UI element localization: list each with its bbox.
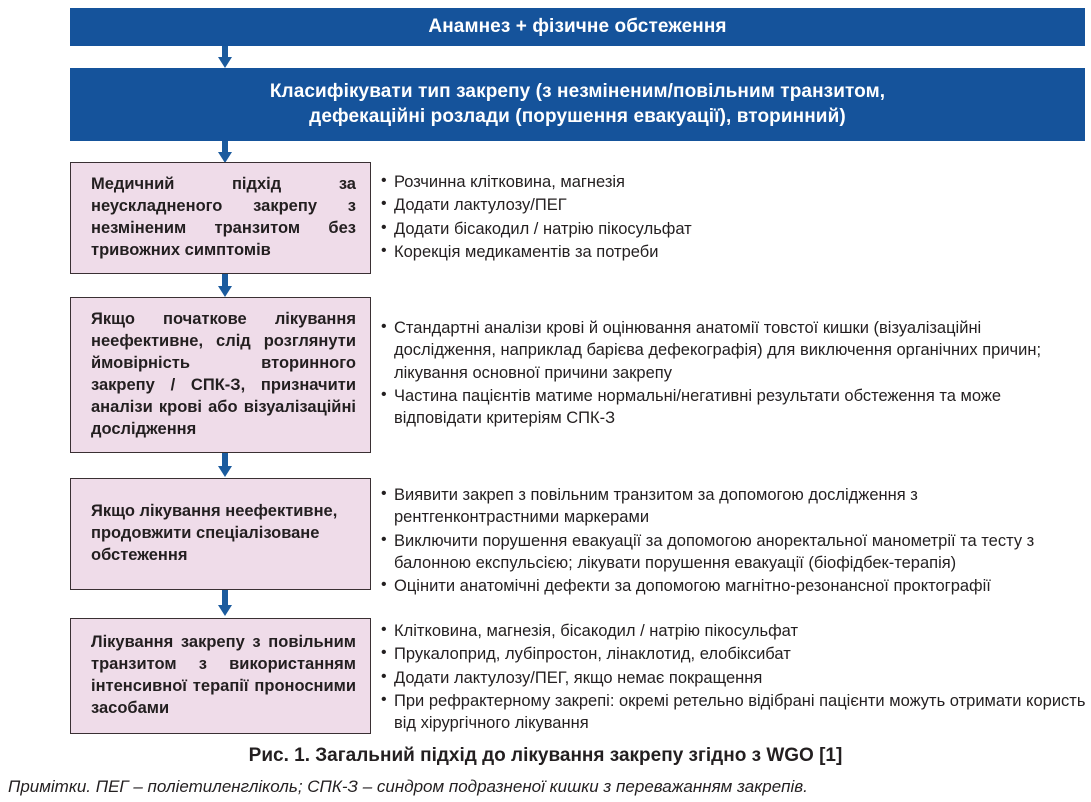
step-box-specialized-testing: Якщо лікування неефективне, продовжити с… <box>70 478 371 590</box>
list-item: Додати лактулозу/ПЕГ, якщо немає покраще… <box>381 667 1087 689</box>
step-4-text: Лікування закрепу з повільним транзитом … <box>91 632 356 720</box>
figure-notes: Примітки. ПЕГ – поліетиленгліколь; СПК-З… <box>8 777 1083 797</box>
bullet-list-step-4: Клітковина, магнезія, бісакодил / натрію… <box>381 620 1087 736</box>
list-item: Клітковина, магнезія, бісакодил / натрію… <box>381 620 1087 642</box>
figure-caption: Рис. 1. Загальний підхід до лікування за… <box>0 745 1091 767</box>
list-item: Оцінити анатомічні дефекти за допомогою … <box>381 575 1087 597</box>
bullet-list-step-3: Виявити закреп з повільним транзитом за … <box>381 484 1087 599</box>
bullet-list-step-1: Розчинна клітковина, магнезія Додати лак… <box>381 171 1087 264</box>
banner-classify-constipation-type: Класифікувати тип закрепу (з незміненим/… <box>70 68 1085 141</box>
list-item: Частина пацієнтів матиме нормальні/негат… <box>381 385 1087 430</box>
arrow-connector-1 <box>218 46 232 68</box>
arrow-connector-2 <box>218 141 232 163</box>
list-item: При рефрактерному закрепі: окремі ретель… <box>381 690 1087 735</box>
arrow-connector-3 <box>218 274 232 297</box>
step-box-medical-approach-uncomplicated: Медичний підхід за неускладненого закреп… <box>70 162 371 274</box>
list-item: Виключити порушення евакуації за допомог… <box>381 530 1087 575</box>
list-item: Додати лактулозу/ПЕГ <box>381 194 1087 216</box>
list-item: Корекція медикаментів за потреби <box>381 241 1087 263</box>
step-2-text: Якщо початкове лікування неефективне, сл… <box>91 309 356 441</box>
step-3-text: Якщо лікування неефективне, продовжити с… <box>91 501 356 567</box>
arrow-connector-4 <box>218 453 232 478</box>
banner-1-line-1: Анамнез + фізичне обстеження <box>428 15 726 39</box>
list-item: Виявити закреп з повільним транзитом за … <box>381 484 1087 529</box>
list-item: Розчинна клітковина, магнезія <box>381 171 1087 193</box>
banner-history-physical-exam: Анамнез + фізичне обстеження <box>70 8 1085 46</box>
step-box-slow-transit-treatment: Лікування закрепу з повільним транзитом … <box>70 618 371 734</box>
step-box-consider-secondary-constipation: Якщо початкове лікування неефективне, сл… <box>70 297 371 453</box>
step-1-text: Медичний підхід за неускладненого закреп… <box>91 174 356 262</box>
banner-2-line-1: Класифікувати тип закрепу (з незміненим/… <box>270 80 885 104</box>
figure-flowchart: Анамнез + фізичне обстеження Класифікува… <box>0 0 1091 802</box>
list-item: Прукалоприд, лубіпростон, лінаклотид, ел… <box>381 643 1087 665</box>
list-item: Додати бісакодил / натрію пікосульфат <box>381 218 1087 240</box>
bullet-list-step-2: Стандартні аналізи крові й оцінювання ан… <box>381 317 1087 431</box>
arrow-connector-5 <box>218 590 232 618</box>
banner-2-line-2: дефекаційні розлади (порушення евакуації… <box>270 105 885 129</box>
list-item: Стандартні аналізи крові й оцінювання ан… <box>381 317 1087 384</box>
